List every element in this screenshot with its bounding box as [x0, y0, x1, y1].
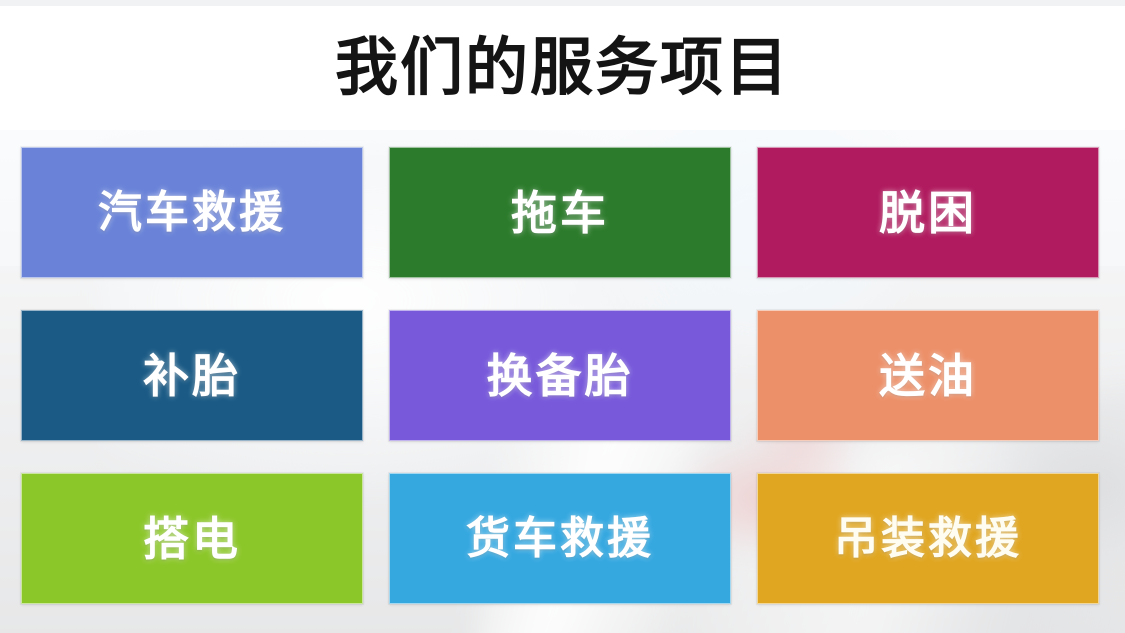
service-tile-label: 送油: [879, 353, 977, 399]
service-tile-label: 脱困: [879, 190, 977, 236]
service-tile-label: 换备胎: [487, 353, 634, 399]
service-tile-label: 搭电: [143, 516, 241, 562]
service-tile-label: 拖车: [511, 190, 609, 236]
title-band: 我们的服务项目: [0, 0, 1125, 130]
service-poster: 我们的服务项目 汽车救援拖车脱困补胎换备胎送油搭电货车救援吊装救援: [0, 0, 1125, 633]
service-tile-label: 汽车救援: [98, 191, 286, 235]
tile-spare-tire[interactable]: 换备胎: [389, 310, 731, 441]
tile-towing[interactable]: 拖车: [389, 147, 731, 278]
tile-tire-repair[interactable]: 补胎: [21, 310, 363, 441]
tile-truck-rescue[interactable]: 货车救援: [389, 473, 731, 604]
tile-fuel-delivery[interactable]: 送油: [757, 310, 1099, 441]
service-tile-label: 补胎: [143, 353, 241, 399]
tile-extrication[interactable]: 脱困: [757, 147, 1099, 278]
tile-hoist-rescue[interactable]: 吊装救援: [757, 473, 1099, 604]
service-tile-grid: 汽车救援拖车脱困补胎换备胎送油搭电货车救援吊装救援: [21, 147, 1100, 605]
page-title: 我们的服务项目: [335, 37, 790, 100]
top-hairline: [0, 0, 1125, 6]
service-tile-label: 货车救援: [466, 517, 654, 561]
tile-jump-start[interactable]: 搭电: [21, 473, 363, 604]
tile-car-rescue[interactable]: 汽车救援: [21, 147, 363, 278]
service-tile-label: 吊装救援: [834, 517, 1022, 561]
